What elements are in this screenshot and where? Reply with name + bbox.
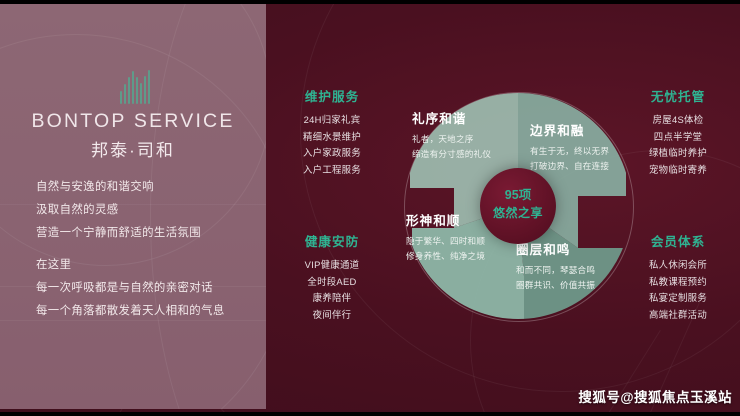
service-item: 私宴定制服务 bbox=[630, 290, 726, 307]
quadrant-title: 礼序和谐 bbox=[412, 108, 491, 127]
brand-tagline: 自然与安逸的和谐交响 汲取自然的灵感 营造一个宁静而舒适的生活氛围 在这里 每一… bbox=[36, 176, 261, 323]
quadrant-line: 圈群共识、价值共振 bbox=[516, 278, 595, 293]
wheel-core-label: 悠然之享 bbox=[480, 204, 556, 221]
letterbox-bottom bbox=[0, 412, 740, 416]
service-item: 私教课程预约 bbox=[630, 274, 726, 291]
service-item: 24H归家礼宾 bbox=[286, 112, 378, 129]
quadrant-line: 礼者，天地之序 bbox=[412, 132, 491, 147]
service-item-list: 私人休闲会所 私教课程预约 私宴定制服务 高端社群活动 bbox=[630, 257, 726, 323]
service-group-title: 健康安防 bbox=[286, 231, 378, 250]
wheel-core-count: 95项 bbox=[480, 184, 556, 203]
service-group-title: 会员体系 bbox=[630, 231, 726, 250]
service-item: 高端社群活动 bbox=[630, 307, 726, 324]
service-item: 全时段AED bbox=[286, 274, 378, 291]
tagline-spacer bbox=[36, 245, 261, 254]
tagline-line: 汲取自然的灵感 bbox=[36, 199, 261, 222]
watermark: 搜狐号@搜狐焦点玉溪站 bbox=[578, 386, 732, 406]
concept-wheel: 礼序和谐 礼者，天地之序 缔造有分寸感的礼仪 边界和融 有生于无，终以无界 打破… bbox=[402, 76, 634, 338]
letterbox-top bbox=[0, 0, 740, 4]
quadrant-line: 修身养性、纯净之境 bbox=[406, 249, 485, 264]
service-item: VIP健康通道 bbox=[286, 257, 378, 274]
service-item-list: 房屋4S体检 四点半学堂 绿植临时养护 宠物临时寄养 bbox=[630, 112, 726, 178]
wheel-quadrant-bottom-right: 圈层和鸣 和而不同，琴瑟合鸣 圈群共识、价值共振 bbox=[516, 239, 595, 292]
wheel-quadrant-top-left: 礼序和谐 礼者，天地之序 缔造有分寸感的礼仪 bbox=[412, 108, 491, 161]
service-item: 入户家政服务 bbox=[286, 145, 378, 162]
tagline-line: 自然与安逸的和谐交响 bbox=[36, 176, 261, 199]
service-group-membership: 会员体系 私人休闲会所 私教课程预约 私宴定制服务 高端社群活动 bbox=[630, 231, 726, 323]
service-item: 康养陪伴 bbox=[286, 290, 378, 307]
bar-lines-icon bbox=[120, 70, 150, 104]
wheel-quadrant-top-right: 边界和融 有生于无，终以无界 打破边界、自在连接 bbox=[530, 120, 609, 173]
service-item: 私人休闲会所 bbox=[630, 257, 726, 274]
brand-title-en: BONTOP SERVICE bbox=[0, 110, 266, 133]
quadrant-line: 隐于繁华、四时和顺 bbox=[406, 234, 485, 249]
wheel-core: 95项 悠然之享 bbox=[480, 168, 556, 244]
quadrant-line: 有生于无，终以无界 bbox=[530, 144, 609, 159]
service-item-list: VIP健康通道 全时段AED 康养陪伴 夜间伴行 bbox=[286, 257, 378, 323]
service-item: 精细水景维护 bbox=[286, 129, 378, 146]
service-item: 四点半学堂 bbox=[630, 129, 726, 146]
quadrant-title: 边界和融 bbox=[530, 120, 609, 139]
tagline-line: 每一个角落都散发着天人相和的气息 bbox=[36, 300, 261, 323]
wheel-quadrant-bottom-left: 形神和顺 隐于繁华、四时和顺 修身养性、纯净之境 bbox=[406, 210, 485, 263]
tagline-line: 营造一个宁静而舒适的生活氛围 bbox=[36, 222, 261, 245]
service-group-worry-free-custody: 无忧托管 房屋4S体检 四点半学堂 绿植临时养护 宠物临时寄养 bbox=[630, 86, 726, 178]
quadrant-line: 打破边界、自在连接 bbox=[530, 159, 609, 174]
presentation-slide: BONTOP SERVICE 邦泰·司和 自然与安逸的和谐交响 汲取自然的灵感 … bbox=[0, 0, 740, 416]
tagline-line: 每一次呼吸都是与自然的亲密对话 bbox=[36, 277, 261, 300]
service-group-health-safety: 健康安防 VIP健康通道 全时段AED 康养陪伴 夜间伴行 bbox=[286, 231, 378, 323]
service-item: 夜间伴行 bbox=[286, 307, 378, 324]
quadrant-title: 形神和顺 bbox=[406, 210, 485, 229]
brand-title-cn: 邦泰·司和 bbox=[0, 136, 266, 161]
service-group-title: 维护服务 bbox=[286, 86, 378, 105]
service-item: 入户工程服务 bbox=[286, 162, 378, 179]
service-group-maintenance: 维护服务 24H归家礼宾 精细水景维护 入户家政服务 入户工程服务 bbox=[286, 86, 378, 178]
service-item: 绿植临时养护 bbox=[630, 145, 726, 162]
service-group-title: 无忧托管 bbox=[630, 86, 726, 105]
service-item: 宠物临时寄养 bbox=[630, 162, 726, 179]
service-item: 房屋4S体检 bbox=[630, 112, 726, 129]
quadrant-line: 和而不同，琴瑟合鸣 bbox=[516, 263, 595, 278]
tagline-line: 在这里 bbox=[36, 254, 261, 277]
service-item-list: 24H归家礼宾 精细水景维护 入户家政服务 入户工程服务 bbox=[286, 112, 378, 178]
quadrant-line: 缔造有分寸感的礼仪 bbox=[412, 147, 491, 162]
